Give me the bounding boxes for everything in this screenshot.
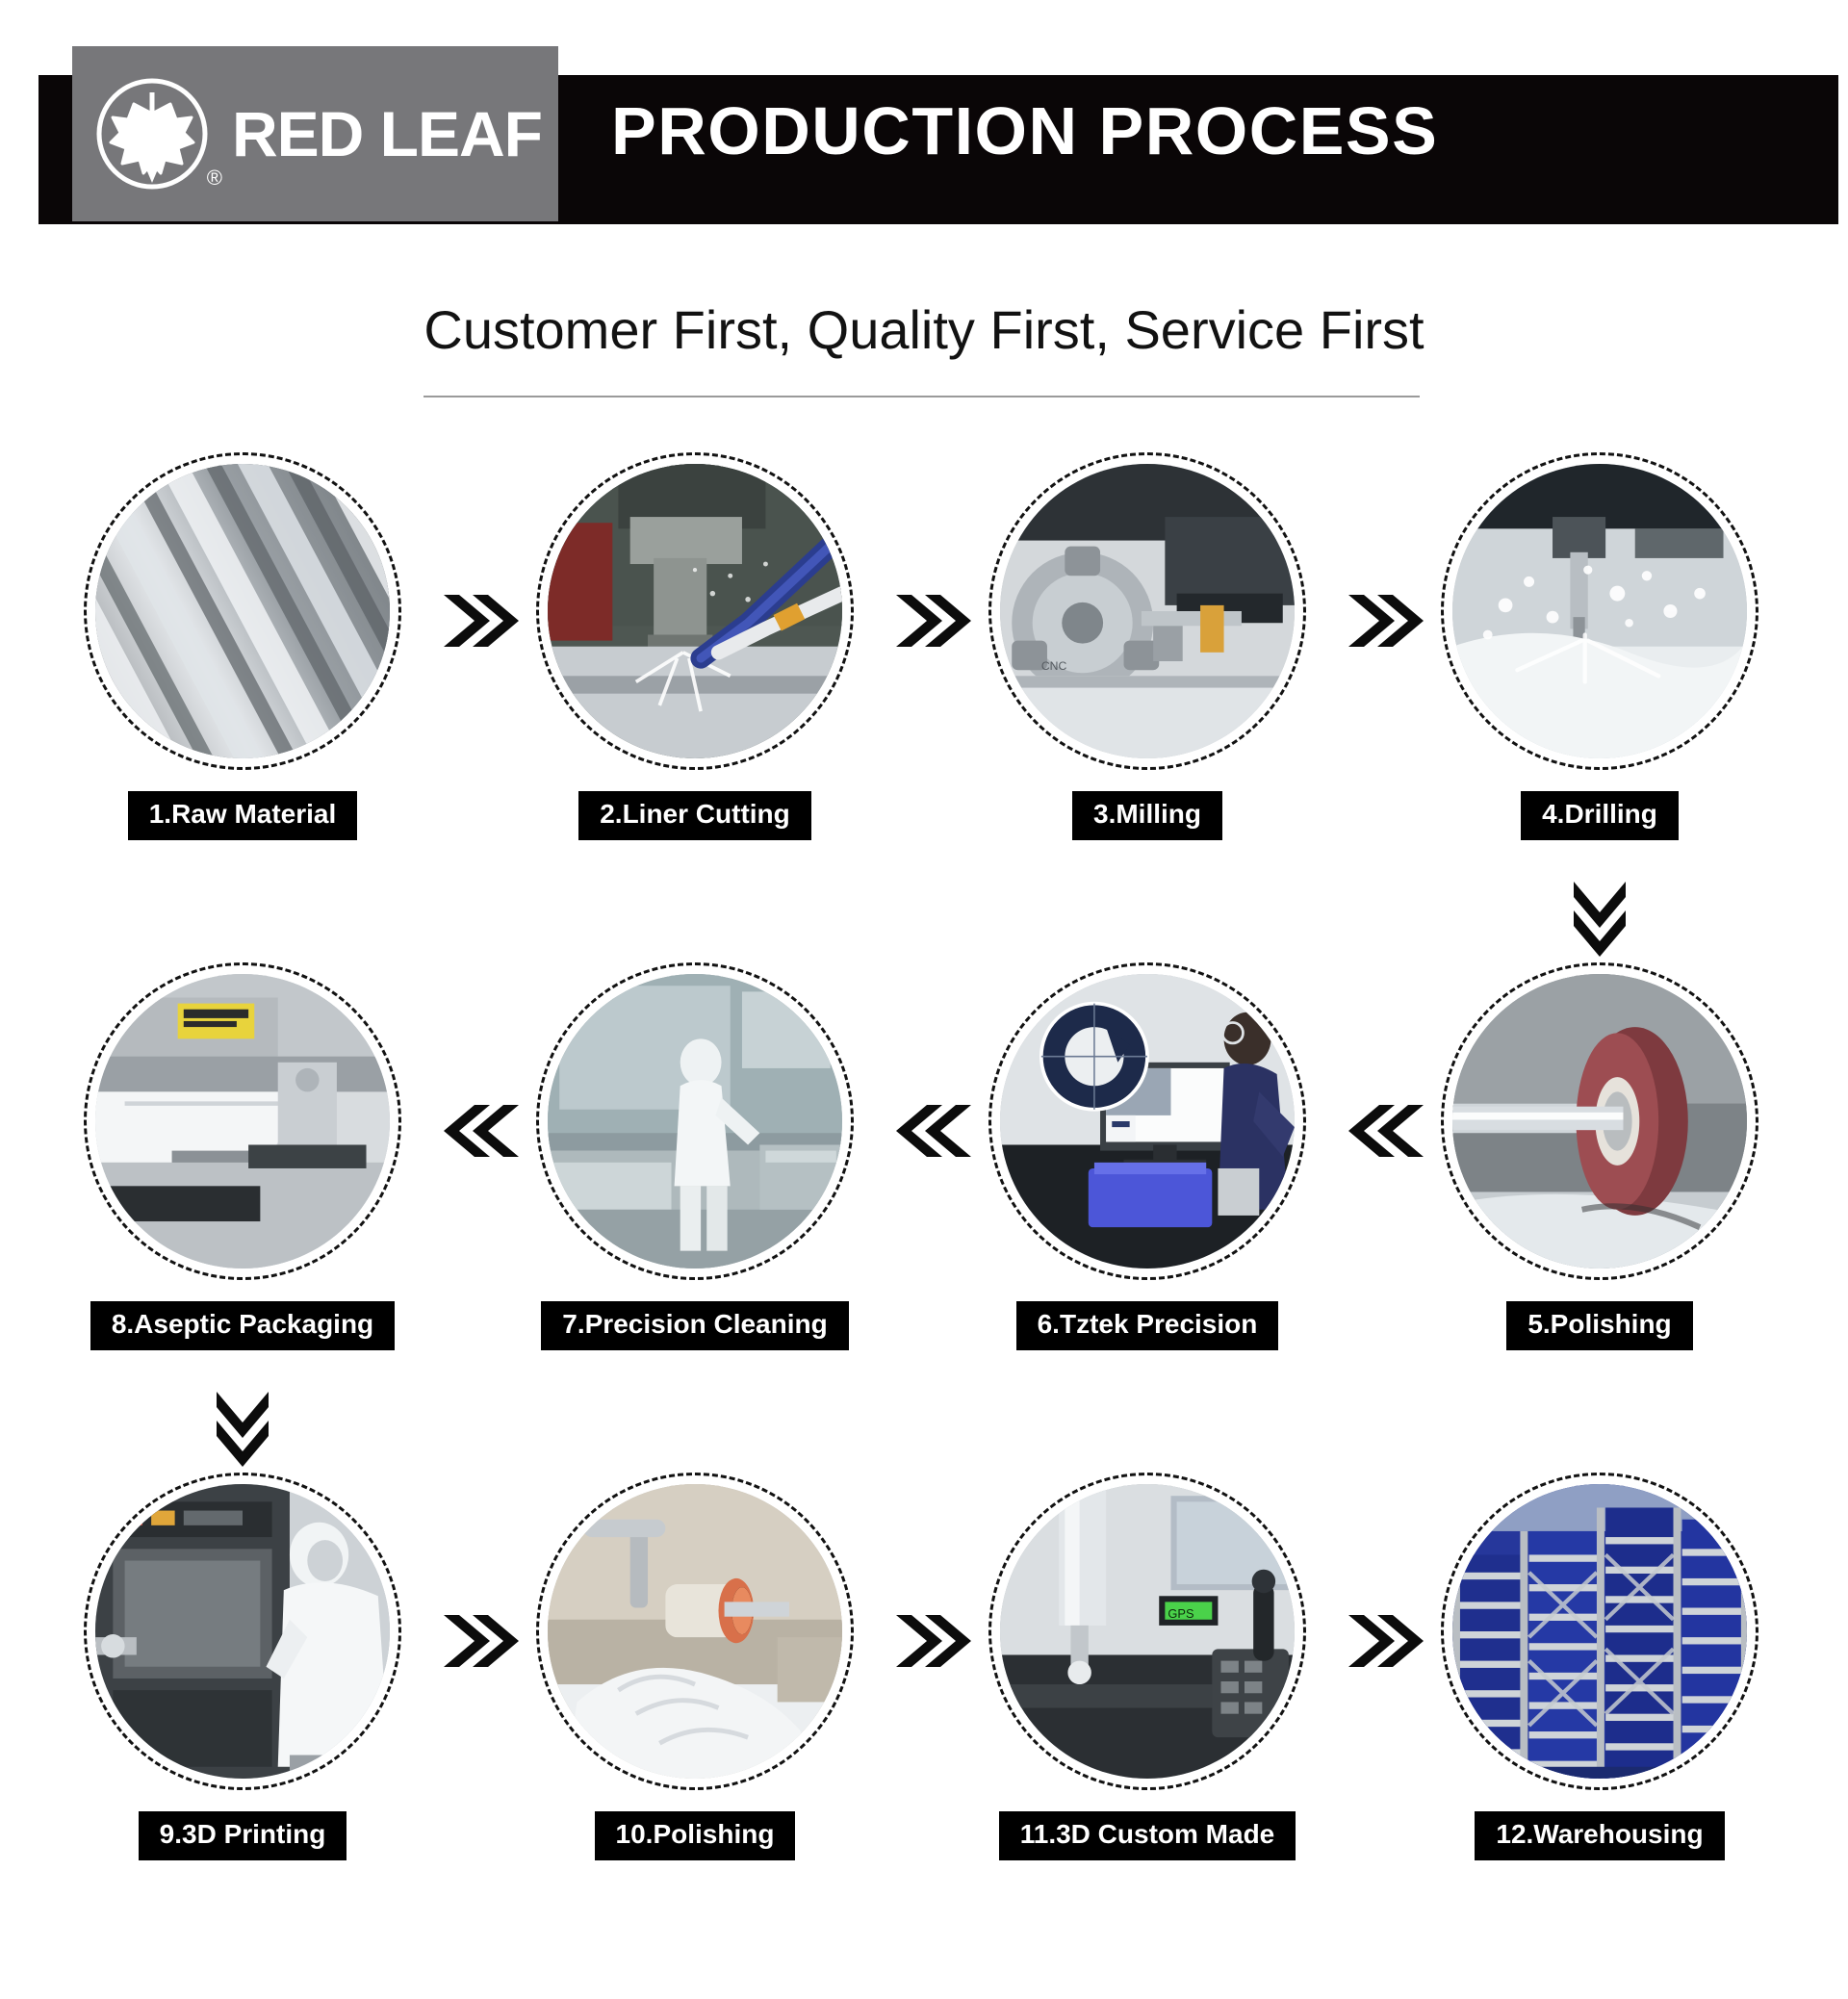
step-label: 7.Precision Cleaning — [541, 1301, 848, 1350]
3d-printer-operator-photo — [95, 1484, 390, 1779]
process-step: 12.Warehousing — [1436, 1473, 1763, 1860]
maple-leaf-circle-icon: ® — [93, 75, 211, 192]
double-chevron-left-icon — [890, 1097, 977, 1165]
process-step: GPS 11.3D Custom Made — [984, 1473, 1311, 1860]
step-label: 5.Polishing — [1506, 1301, 1692, 1350]
process-step: 5.Polishing — [1436, 962, 1763, 1350]
brand-logo-block: ® RED LEAF — [72, 46, 558, 221]
step-label: 3.Milling — [1072, 791, 1222, 840]
process-step: 6.Tztek Precision — [984, 962, 1311, 1350]
step-label: 4.Drilling — [1521, 791, 1679, 840]
page-header: ® RED LEAF PRODUCTION PROCESS — [0, 0, 1848, 231]
process-row: 8.Aseptic Packaging — [0, 962, 1848, 1473]
cnc-lathe-milling-photo: CNC — [1000, 464, 1295, 758]
steel-bars-photo — [95, 464, 390, 758]
process-step: 4.Drilling — [1436, 452, 1763, 840]
warehouse-blue-bins-photo — [1452, 1484, 1747, 1779]
tztek-vision-inspection-photo — [1000, 974, 1295, 1269]
double-chevron-down-icon — [1566, 876, 1633, 962]
step-label: 11.3D Custom Made — [999, 1811, 1296, 1860]
photo-ring — [84, 452, 401, 770]
double-chevron-left-icon — [438, 1097, 525, 1165]
registered-trademark-mark: ® — [207, 167, 222, 189]
photo-ring — [536, 452, 854, 770]
photo-ring — [536, 962, 854, 1280]
step-label: 10.Polishing — [595, 1811, 796, 1860]
process-step: 7.Precision Cleaning — [531, 962, 859, 1350]
cmm-measuring-photo: GPS — [1000, 1484, 1295, 1779]
step-label: 12.Warehousing — [1475, 1811, 1724, 1860]
subtitle-text: Customer First, Quality First, Service F… — [423, 299, 1424, 360]
process-grid: 1.Raw Material — [0, 452, 1848, 1983]
photo-ring: CNC — [988, 452, 1306, 770]
process-step: 9.3D Printing — [79, 1473, 406, 1860]
double-chevron-right-icon — [890, 587, 977, 654]
photo-ring — [988, 962, 1306, 1280]
drill-coolant-splash-photo — [1452, 464, 1747, 758]
double-chevron-right-icon — [438, 1607, 525, 1675]
cleanroom-worker-photo — [548, 974, 842, 1269]
process-row: 1.Raw Material — [0, 452, 1848, 962]
cnc-coolant-cutting-photo — [548, 464, 842, 758]
step-label: 1.Raw Material — [128, 791, 358, 840]
photo-ring: GPS — [988, 1473, 1306, 1790]
double-chevron-right-icon — [890, 1607, 977, 1675]
double-chevron-left-icon — [1343, 1097, 1429, 1165]
photo-ring — [1441, 452, 1758, 770]
process-step: 1.Raw Material — [79, 452, 406, 840]
process-step: 10.Polishing — [531, 1473, 859, 1860]
svg-text:CNC: CNC — [1041, 659, 1067, 673]
step-label: 2.Liner Cutting — [578, 791, 811, 840]
polishing-wheel-photo — [1452, 974, 1747, 1269]
brand-name: RED LEAF — [232, 97, 542, 170]
subtitle-divider — [423, 396, 1420, 397]
step-label: 9.3D Printing — [139, 1811, 347, 1860]
step-label: 6.Tztek Precision — [1016, 1301, 1279, 1350]
process-row: 9.3D Printing — [0, 1473, 1848, 1983]
hand-polishing-photo — [548, 1484, 842, 1779]
subtitle-container: Customer First, Quality First, Service F… — [0, 298, 1848, 361]
photo-ring — [84, 962, 401, 1280]
photo-ring — [84, 1473, 401, 1790]
double-chevron-right-icon — [1343, 1607, 1429, 1675]
svg-text:GPS: GPS — [1168, 1606, 1193, 1621]
step-label: 8.Aseptic Packaging — [90, 1301, 395, 1350]
photo-ring — [1441, 1473, 1758, 1790]
double-chevron-right-icon — [438, 587, 525, 654]
process-step: CNC 3.Milling — [984, 452, 1311, 840]
aseptic-packaging-machine-photo — [95, 974, 390, 1269]
photo-ring — [1441, 962, 1758, 1280]
photo-ring — [536, 1473, 854, 1790]
double-chevron-right-icon — [1343, 587, 1429, 654]
process-step: 8.Aseptic Packaging — [79, 962, 406, 1350]
page-title: PRODUCTION PROCESS — [611, 92, 1438, 169]
infographic-page: ® RED LEAF PRODUCTION PROCESS Customer F… — [0, 0, 1848, 1999]
double-chevron-down-icon — [209, 1386, 276, 1473]
process-step: 2.Liner Cutting — [531, 452, 859, 840]
